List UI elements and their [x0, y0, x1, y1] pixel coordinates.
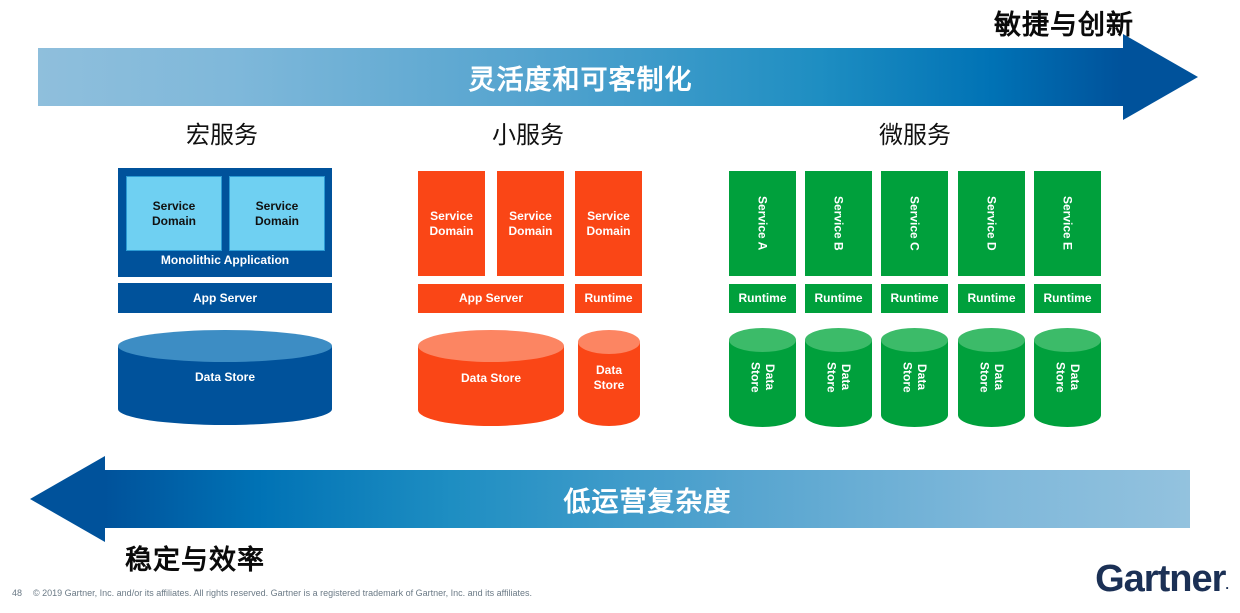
data-store-label-wrap: Data Store: [118, 330, 332, 425]
data-store-label: Data Store: [824, 362, 853, 393]
runtime-label: Runtime: [1044, 291, 1092, 306]
service-domain-box: Service Domain: [229, 176, 325, 251]
runtime-label: Runtime: [739, 291, 787, 306]
data-store-label: Data Store: [900, 362, 929, 393]
data-store-cylinder: Data Store: [881, 328, 948, 427]
runtime-bar: Runtime: [881, 284, 948, 313]
data-store-cylinder: Data Store: [805, 328, 872, 427]
runtime-bar: Runtime: [958, 284, 1025, 313]
runtime-label: Runtime: [815, 291, 863, 306]
data-store-cylinder: Data Store: [1034, 328, 1101, 427]
arrow-head-left-icon: [30, 456, 105, 542]
app-server-bar: App Server: [118, 283, 332, 313]
service-label: Service A: [755, 196, 769, 250]
data-store-label: Data Store: [195, 370, 255, 385]
agility-arrow: 灵活度和可客制化: [38, 48, 1198, 106]
data-store-label: Data Store: [977, 362, 1006, 393]
service-domain-label: Service Domain: [508, 209, 552, 239]
operational-complexity-arrow: 低运营复杂度: [30, 470, 1190, 528]
column-heading-miniservices: 小服务: [448, 115, 608, 150]
service-domain-box: Service Domain: [126, 176, 222, 251]
runtime-bar: Runtime: [575, 284, 642, 313]
runtime-bar: Runtime: [805, 284, 872, 313]
data-store-label: Data Store: [748, 362, 777, 393]
service-label: Service D: [984, 196, 998, 251]
service-label: Service C: [907, 196, 921, 251]
bottom-arrow-caption: 稳定与效率: [125, 538, 265, 577]
data-store-cylinder: Data Store: [958, 328, 1025, 427]
service-box: Service D: [958, 171, 1025, 276]
service-box: Service C: [881, 171, 948, 276]
runtime-label: Runtime: [891, 291, 939, 306]
app-server-label: App Server: [193, 291, 257, 306]
data-store-label-wrap: Data Store: [418, 330, 564, 426]
data-store-cylinder: Data Store: [118, 330, 332, 425]
service-box: Service B: [805, 171, 872, 276]
data-store-label-wrap: Data Store: [729, 328, 796, 427]
service-label: Service B: [831, 196, 845, 251]
arrow-head-right-icon: [1123, 34, 1198, 120]
data-store-label-wrap: Data Store: [958, 328, 1025, 427]
app-server-bar: App Server: [418, 284, 564, 313]
service-domain-label: Service Domain: [586, 209, 630, 239]
data-store-label: Data Store: [1053, 362, 1082, 393]
top-arrow-label: 灵活度和可客制化: [38, 48, 1123, 106]
monolithic-application-label: Monolithic Application: [161, 253, 289, 268]
service-box: Service A: [729, 171, 796, 276]
gartner-logo: Gartner.: [1095, 558, 1228, 601]
data-store-label: Data Store: [594, 363, 625, 393]
data-store-cylinder: Data Store: [578, 330, 640, 426]
data-store-cylinder: Data Store: [729, 328, 796, 427]
column-heading-microservices: 微服务: [835, 115, 995, 150]
column-heading-macroservices: 宏服务: [142, 115, 302, 150]
slide-number: 48: [12, 588, 22, 598]
service-domain-box: Service Domain: [575, 171, 642, 276]
service-domain-label: Service Domain: [429, 209, 473, 239]
runtime-label: Runtime: [585, 291, 633, 306]
service-box: Service E: [1034, 171, 1101, 276]
service-label: Service E: [1060, 196, 1074, 250]
app-server-label: App Server: [459, 291, 523, 306]
bottom-arrow-label: 低运营复杂度: [105, 470, 1190, 528]
service-domain-box: Service Domain: [497, 171, 564, 276]
data-store-label-wrap: Data Store: [578, 330, 640, 426]
top-arrow-caption: 敏捷与创新: [994, 3, 1134, 42]
service-domain-label: Service Domain: [152, 199, 196, 229]
data-store-label-wrap: Data Store: [1034, 328, 1101, 427]
runtime-label: Runtime: [968, 291, 1016, 306]
slide-canvas: 敏捷与创新 灵活度和可客制化 宏服务 小服务 微服务 Monolithic Ap…: [0, 0, 1240, 613]
runtime-bar: Runtime: [729, 284, 796, 313]
service-domain-label: Service Domain: [255, 199, 299, 229]
service-domain-box: Service Domain: [418, 171, 485, 276]
runtime-bar: Runtime: [1034, 284, 1101, 313]
copyright-notice: © 2019 Gartner, Inc. and/or its affiliat…: [33, 588, 532, 598]
data-store-label: Data Store: [461, 371, 521, 386]
registered-mark: .: [1225, 577, 1228, 592]
gartner-logo-text: Gartner: [1095, 558, 1225, 600]
data-store-label-wrap: Data Store: [805, 328, 872, 427]
data-store-cylinder: Data Store: [418, 330, 564, 426]
data-store-label-wrap: Data Store: [881, 328, 948, 427]
